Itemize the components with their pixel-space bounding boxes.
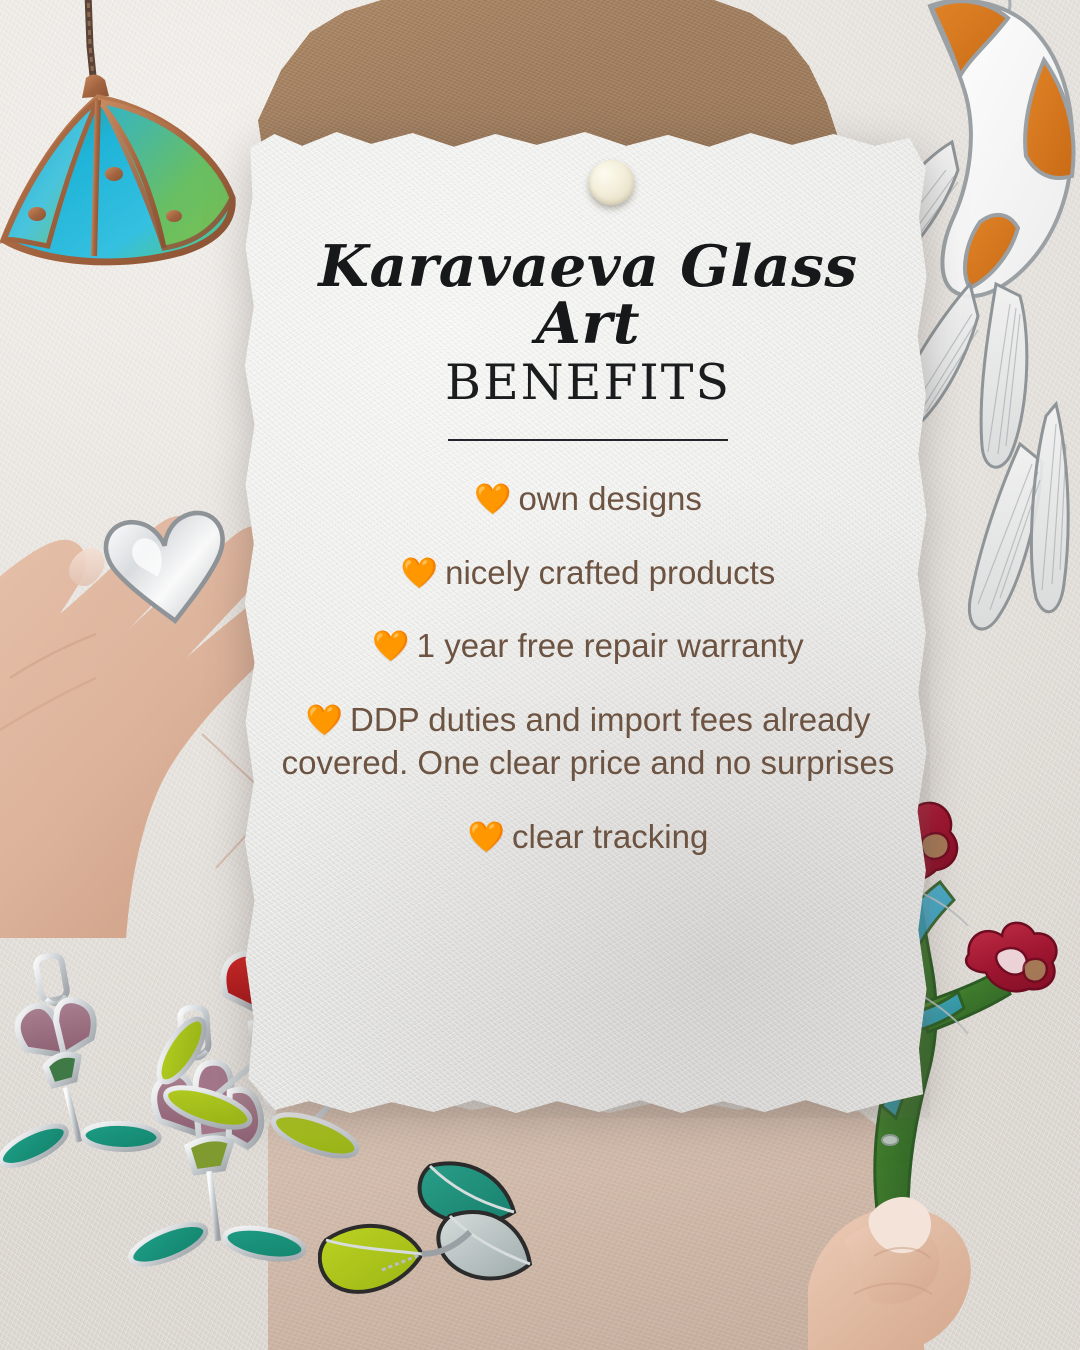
brand-title: Karavaeva Glass Art [262,238,915,352]
list-item: 🧡clear tracking [268,815,908,859]
orange-heart-icon: 🧡 [372,630,409,663]
benefit-text: DDP duties and import fees already cover… [282,701,895,782]
card-content: Karavaeva Glass Art BENEFITS 🧡own design… [268,150,908,858]
blush-paper-texture [268,1092,888,1350]
list-item: 🧡nicely crafted products [268,551,908,595]
blush-paper-layer [268,1092,888,1350]
orange-heart-icon: 🧡 [401,557,438,590]
page-title: BENEFITS [268,354,908,411]
poster-canvas: Karavaeva Glass Art BENEFITS 🧡own design… [0,0,1080,1350]
benefits-list: 🧡own designs 🧡nicely crafted products 🧡1… [268,477,908,858]
benefit-text: 1 year free repair warranty [417,627,804,664]
benefit-text: nicely crafted products [445,554,775,591]
orange-heart-icon: 🧡 [474,483,511,516]
list-item: 🧡own designs [268,477,908,521]
list-item: 🧡1 year free repair warranty [268,624,908,668]
list-item: 🧡DDP duties and import fees already cove… [268,698,908,785]
orange-heart-icon: 🧡 [468,821,505,854]
orange-heart-icon: 🧡 [306,704,343,737]
divider [448,439,728,441]
benefit-text: clear tracking [512,818,708,855]
benefit-text: own designs [518,480,701,517]
